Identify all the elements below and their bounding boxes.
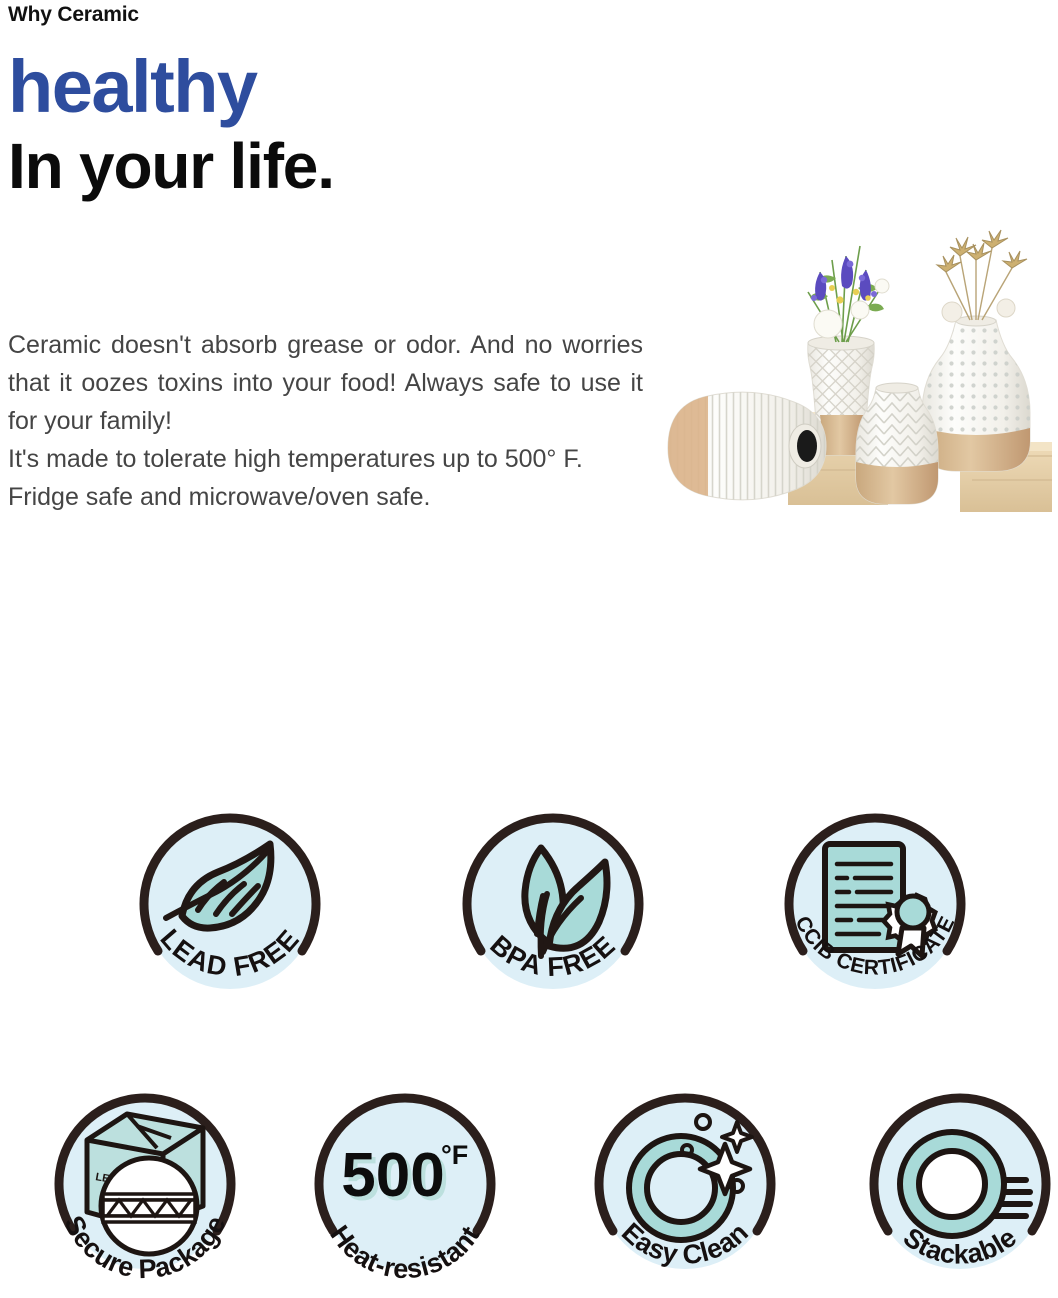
badge-easy-clean[interactable]: Easy Clean: [585, 1088, 785, 1288]
badge-bpa-free[interactable]: BPA FREE: [453, 808, 653, 1008]
body-paragraph-2: It's made to tolerate high temperatures …: [8, 440, 643, 516]
badge-heat-resistant[interactable]: 500 500 °F Heat-resistant: [305, 1088, 505, 1288]
headline-accent-word: healthy: [8, 46, 658, 128]
temperature-unit: °F: [441, 1140, 468, 1170]
headline-block: Why Ceramic healthy In your life.: [8, 2, 658, 202]
badge-secure-package[interactable]: LE TAUO Secure Package: [45, 1088, 245, 1288]
body-copy: Ceramic doesn't absorb grease or odor. A…: [8, 326, 643, 516]
badge-ccib-certificate[interactable]: CCIB CERTIFICATE: [775, 808, 975, 1008]
badge-lead-free[interactable]: LEAD FREE: [130, 808, 330, 1008]
temperature-value: 500: [341, 1141, 444, 1210]
product-photo: [660, 160, 1058, 560]
body-paragraph-1: Ceramic doesn't absorb grease or odor. A…: [8, 326, 643, 440]
badge-stackable[interactable]: Stackable: [860, 1088, 1058, 1288]
vase-ribbed-tipped: [668, 392, 826, 500]
page-title: Why Ceramic: [8, 2, 658, 28]
headline-main-line: In your life.: [8, 130, 658, 202]
